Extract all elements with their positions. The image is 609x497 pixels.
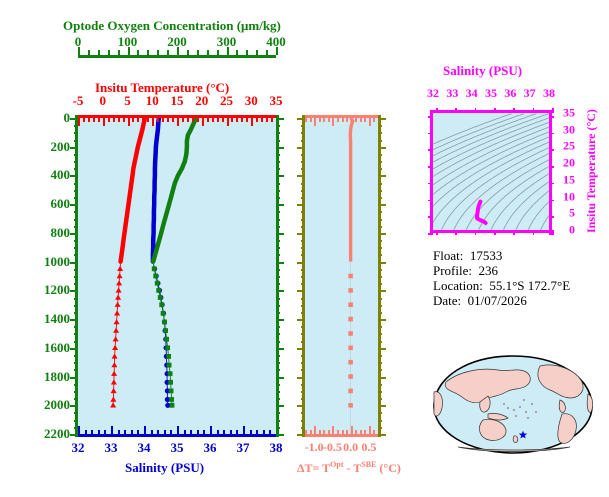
pressure-tick-right <box>276 154 280 156</box>
ts-tick <box>430 162 433 164</box>
profile-marker <box>111 379 117 384</box>
temperature-tick <box>256 118 258 122</box>
ts-tick <box>430 145 433 147</box>
ts-tick <box>523 110 525 113</box>
delta-t-tick <box>314 118 316 126</box>
delta-t-tick <box>310 430 312 434</box>
delta-t-pressure-tick <box>301 362 305 364</box>
ts-tick <box>484 230 486 233</box>
delta-t-marker <box>348 389 353 394</box>
ts-tick <box>430 141 433 143</box>
salinity-tick-label: 36 <box>204 440 217 456</box>
ts-tick <box>549 154 552 156</box>
salinity-tick <box>151 430 153 434</box>
salinity-axis-title: Salinity (PSU) <box>125 460 204 476</box>
pressure-tick-label: 1600 <box>44 340 70 356</box>
ts-tick <box>528 110 530 113</box>
pressure-tick <box>74 362 78 364</box>
meta-location-row: Location: 55.1°S 172.7°E <box>433 278 570 293</box>
delta-t-pressure-tick <box>378 140 382 142</box>
profile-marker <box>167 363 172 368</box>
ts-salinity-tick-labels: 32333435363738 <box>425 86 555 101</box>
ts-temperature-tick-label: 20 <box>553 156 575 171</box>
ts-tick <box>549 229 552 231</box>
oxygen-tick <box>207 50 209 55</box>
island <box>515 415 517 417</box>
salinity-tick <box>98 430 100 434</box>
pressure-tick-right <box>276 412 280 414</box>
ts-tick <box>430 220 433 222</box>
pressure-tick <box>74 341 78 343</box>
ts-salinity-tick-label: 33 <box>446 86 458 101</box>
pressure-tick <box>74 276 78 278</box>
delta-t-pressure-tick <box>301 132 305 134</box>
delta-t-tick <box>360 118 362 122</box>
delta-t-pressure-tick <box>378 312 382 314</box>
meta-float-value: 17533 <box>470 248 503 263</box>
salinity-tick <box>190 430 192 434</box>
pressure-tick-right <box>276 168 280 170</box>
pressure-tick <box>74 219 78 221</box>
salinity-tick-label: 38 <box>270 440 283 456</box>
pressure-tick <box>74 326 78 328</box>
temperature-tick-label: 15 <box>171 93 184 109</box>
ts-tick <box>518 110 520 113</box>
delta-t-pressure-tick <box>301 254 305 256</box>
meta-location-label: Location: <box>433 278 483 293</box>
delta-t-pressure-tick <box>378 355 382 357</box>
ts-tick <box>455 108 457 113</box>
ts-temperature-tick-label: 0 <box>553 223 575 238</box>
delta-t-pressure-tick <box>301 226 305 228</box>
pressure-tick-right <box>276 369 280 371</box>
ts-tick <box>430 154 433 156</box>
delta-t-pressure-tick <box>378 405 386 407</box>
pressure-tick <box>74 168 78 170</box>
ts-salinity-tick-label: 38 <box>543 86 555 101</box>
temperature-tick <box>172 118 174 122</box>
temperature-tick <box>147 118 149 122</box>
temperature-tick <box>98 118 100 122</box>
salinity-tick <box>118 430 120 434</box>
pressure-tick-right <box>276 298 280 300</box>
pressure-tick-right <box>276 427 280 429</box>
delta-t-pressure-tick <box>378 132 382 134</box>
delta-t-marker <box>348 346 353 351</box>
pressure-tick-right <box>276 341 280 343</box>
temperature-tick <box>103 118 105 126</box>
delta-t-tick <box>351 118 353 126</box>
temperature-tick <box>261 118 263 122</box>
meta-float-row: Float: 17533 <box>433 248 570 263</box>
temperature-tick-label: 20 <box>195 93 208 109</box>
salinity-tick <box>256 430 258 434</box>
delta-t-pressure-tick <box>301 298 305 300</box>
profile-line-square <box>153 118 196 262</box>
pressure-tick-right <box>276 312 280 314</box>
delta-t-pressure-tick <box>378 369 382 371</box>
meta-profile-label: Profile: <box>433 263 472 278</box>
pressure-tick <box>74 132 78 134</box>
temperature-tick <box>231 118 233 122</box>
meta-profile-value: 236 <box>479 263 499 278</box>
ts-tick <box>549 124 552 126</box>
delta-t-pressure-tick <box>378 362 382 364</box>
pressure-tick <box>70 434 78 436</box>
ts-tick <box>430 195 433 197</box>
delta-t-curve <box>305 118 378 434</box>
delta-t-pressure-tick <box>301 369 305 371</box>
profile-plot-left-axis <box>75 115 78 437</box>
temperature-tick <box>197 118 199 122</box>
delta-t-pressure-tick <box>378 168 382 170</box>
temperature-tick <box>192 118 194 122</box>
pressure-tick <box>74 197 78 199</box>
profile-marker <box>117 266 123 271</box>
temperature-tick <box>93 118 95 122</box>
temperature-tick <box>271 118 273 122</box>
delta-t-tick <box>323 430 325 434</box>
delta-t-pressure-tick <box>301 211 305 213</box>
ts-salinity-tick-label: 36 <box>504 86 516 101</box>
profile-marker <box>162 320 167 325</box>
ts-tick <box>489 230 491 233</box>
salinity-tick <box>223 430 225 434</box>
pressure-tick <box>74 161 78 163</box>
temperature-tick <box>118 118 120 122</box>
ts-tick <box>430 158 433 160</box>
delta-t-pressure-tick <box>378 183 382 185</box>
pressure-tick <box>74 240 78 242</box>
island <box>527 417 529 419</box>
delta-t-pressure-tick <box>301 161 305 163</box>
salinity-tick <box>197 430 199 434</box>
delta-t-pressure-tick <box>378 290 386 292</box>
profile-marker <box>164 337 169 342</box>
delta-t-tick <box>337 430 339 434</box>
delta-t-pressure-tick <box>378 412 382 414</box>
delta-t-tick <box>369 426 371 434</box>
profile-marker <box>169 397 174 402</box>
delta-t-pressure-tick <box>378 197 382 199</box>
ts-tick <box>430 120 433 122</box>
pressure-tick-right <box>276 190 280 192</box>
delta-t-pressure-tick <box>297 175 305 177</box>
temperature-tick <box>113 118 115 122</box>
pressure-tick <box>74 254 78 256</box>
ts-tick <box>549 225 552 227</box>
ts-tick <box>494 108 496 113</box>
pressure-tick <box>74 427 78 429</box>
pressure-tick <box>74 305 78 307</box>
profile-curves <box>78 118 276 434</box>
oxygen-tick <box>118 50 120 55</box>
delta-t-tick <box>342 118 344 122</box>
ts-tick <box>542 230 544 233</box>
delta-t-pressure-tick <box>378 240 382 242</box>
profile-marker <box>115 302 121 307</box>
oxygen-tick <box>98 50 100 55</box>
delta-t-tick <box>319 430 321 434</box>
ts-tick <box>470 230 472 233</box>
delta-t-pressure-tick <box>301 355 305 357</box>
temperature-tick <box>152 118 154 126</box>
pressure-tick <box>74 298 78 300</box>
ts-tick <box>446 230 448 233</box>
pressure-tick-right <box>276 391 280 393</box>
delta-t-tick-labels: -1.0-0.50.00.5 <box>290 440 395 456</box>
oxygen-tick <box>266 50 268 55</box>
delta-t-tick-label: 0.5 <box>361 440 376 455</box>
profile-marker <box>152 266 157 271</box>
salinity-tick <box>131 430 133 434</box>
ts-tick <box>549 191 552 193</box>
ts-tick <box>428 200 433 202</box>
delta-t-pressure-tick <box>301 240 305 242</box>
profile-marker <box>168 371 173 376</box>
pressure-tick-right <box>276 333 280 335</box>
pressure-tick <box>74 183 78 185</box>
ts-salinity-tick-label: 35 <box>485 86 497 101</box>
salinity-tick-label: 35 <box>171 440 184 456</box>
temperature-tick <box>162 118 164 122</box>
ts-temperature-tick-label: 25 <box>553 139 575 154</box>
ts-salinity-tick-label: 34 <box>466 86 478 101</box>
pressure-tick-label: 400 <box>51 167 71 183</box>
delta-t-plot-area[interactable] <box>305 118 378 434</box>
temperature-tick <box>177 118 179 126</box>
salinity-axis-tick-labels: 32333435363738 <box>63 440 293 456</box>
ts-tick <box>549 158 552 160</box>
pressure-tick-label: 600 <box>51 196 71 212</box>
pressure-tick <box>74 398 78 400</box>
profile-marker <box>158 295 163 300</box>
pressure-tick-right <box>276 362 280 364</box>
delta-t-tick <box>355 430 357 434</box>
ts-tick <box>480 230 482 233</box>
ts-tick <box>549 170 552 172</box>
ts-tick <box>475 108 477 113</box>
ts-tick <box>549 162 552 164</box>
delta-t-pressure-tick <box>301 391 305 393</box>
pressure-tick <box>74 355 78 357</box>
salinity-tick <box>164 430 166 434</box>
delta-t-line <box>350 118 353 262</box>
pressure-tick-right <box>276 219 280 221</box>
temperature-tick <box>251 118 253 126</box>
ts-tick <box>513 230 515 235</box>
landmass <box>558 414 577 444</box>
delta-t-top-axis <box>305 115 381 118</box>
ts-tick <box>549 195 552 197</box>
pressure-tick-label: 1800 <box>44 369 70 385</box>
world-map[interactable] <box>428 352 598 457</box>
pressure-tick <box>74 369 78 371</box>
profile-marker <box>114 319 120 324</box>
pressure-tick-right <box>276 269 280 271</box>
delta-t-tick <box>355 118 357 122</box>
ts-temperature-axis-title: Insitu Temperature (°C) <box>584 109 599 233</box>
delta-t-pressure-tick <box>301 333 305 335</box>
temperature-tick <box>212 118 214 122</box>
oxygen-axis-title: Optode Oxygen Concentration (μm/kg) <box>63 18 281 34</box>
temperature-tick <box>157 118 159 122</box>
ts-tick <box>549 120 552 122</box>
pressure-tick-label: 1000 <box>44 254 70 270</box>
ts-tick <box>430 191 433 193</box>
oxygen-tick <box>177 47 179 55</box>
ts-tick <box>549 145 552 147</box>
delta-t-pressure-tick <box>297 434 305 436</box>
delta-t-pressure-tick <box>301 125 305 127</box>
ts-tick <box>549 220 552 222</box>
delta-t-marker <box>348 302 353 307</box>
pressure-tick <box>70 233 78 235</box>
oxygen-tick <box>137 50 139 55</box>
ts-tick <box>430 124 433 126</box>
delta-t-pressure-tick <box>378 348 386 350</box>
delta-t-pressure-tick <box>297 233 305 235</box>
profile-marker <box>111 362 117 367</box>
ts-tick <box>499 230 501 233</box>
delta-t-pressure-tick <box>301 168 305 170</box>
delta-t-tick <box>328 118 330 122</box>
oxygen-tick <box>187 50 189 55</box>
pressure-tick-right <box>276 405 284 407</box>
ts-diagram-title: Salinity (PSU) <box>443 63 522 79</box>
pressure-tick-right <box>276 355 280 357</box>
pressure-tick <box>74 211 78 213</box>
delta-t-tick <box>328 430 330 434</box>
delta-t-pressure-tick <box>378 211 382 213</box>
temperature-tick-label: 10 <box>146 93 159 109</box>
pressure-tick <box>74 154 78 156</box>
pressure-tick-right <box>276 247 280 249</box>
temperature-tick <box>78 118 80 126</box>
delta-t-pressure-tick <box>378 175 386 177</box>
island <box>513 409 515 411</box>
island <box>519 406 521 408</box>
ts-tick <box>549 212 552 214</box>
delta-t-pressure-tick <box>297 262 305 264</box>
pressure-tick-right <box>276 226 280 228</box>
oxygen-tick <box>256 50 258 55</box>
ts-tick <box>430 204 433 206</box>
island <box>525 411 527 413</box>
temperature-tick <box>88 118 90 122</box>
salinity-tick <box>157 430 159 434</box>
pressure-tick <box>70 405 78 407</box>
ts-tick <box>542 110 544 113</box>
delta-t-tick <box>342 430 344 434</box>
salinity-tick <box>137 430 139 434</box>
ts-diagram-border <box>430 110 552 233</box>
profile-marker <box>116 287 122 292</box>
oxygen-tick <box>78 47 80 55</box>
delta-t-tick <box>351 426 353 434</box>
delta-t-pressure-tick <box>378 161 382 163</box>
ts-tick <box>513 108 515 113</box>
pressure-tick <box>74 269 78 271</box>
pressure-tick-right <box>276 125 280 127</box>
pressure-tick-right <box>276 319 284 321</box>
oxygen-tick <box>167 50 169 55</box>
ts-tick <box>465 110 467 113</box>
pressure-tick-right <box>276 183 280 185</box>
oxygen-tick <box>147 50 149 55</box>
delta-t-bottom-axis <box>305 434 381 437</box>
delta-t-sup-opt: Opt <box>330 460 343 469</box>
pressure-tick-right <box>276 118 284 120</box>
temperature-tick-label: -5 <box>73 93 84 109</box>
ts-tick <box>504 110 506 113</box>
oxygen-axis-tick-labels: 0100200300400 <box>63 34 278 49</box>
delta-t-pressure-tick <box>301 326 305 328</box>
temperature-tick <box>202 118 204 126</box>
temperature-tick-label: 35 <box>270 93 283 109</box>
ts-tick <box>549 141 552 143</box>
delta-t-pressure-tick <box>301 140 305 142</box>
pressure-tick-right <box>276 140 280 142</box>
meta-date-row: Date: 01/07/2026 <box>433 293 570 308</box>
delta-t-pressure-tick <box>378 333 382 335</box>
profile-plot-bottom-axis <box>78 434 279 437</box>
ts-tick <box>428 133 433 135</box>
pressure-tick <box>74 226 78 228</box>
salinity-tick <box>78 426 80 434</box>
delta-t-sup-sbe: SBE <box>361 460 376 469</box>
ts-tick <box>430 179 433 181</box>
ts-tick <box>455 230 457 235</box>
delta-t-tick <box>373 430 375 434</box>
temperature-tick <box>137 118 139 122</box>
delta-t-pressure-tick <box>378 391 382 393</box>
delta-t-pressure-tick <box>378 326 382 328</box>
profile-marker <box>112 345 118 350</box>
salinity-tick-label: 33 <box>105 440 118 456</box>
profile-plot-area[interactable] <box>78 118 276 434</box>
pressure-tick-right <box>276 326 280 328</box>
delta-t-pressure-tick <box>378 247 382 249</box>
profile-plot-right-axis <box>276 115 279 437</box>
ts-tick <box>533 108 535 113</box>
ts-temperature-tick-label: 35 <box>553 106 575 121</box>
delta-t-tick <box>332 426 334 434</box>
oxygen-tick <box>217 50 219 55</box>
profile-marker <box>156 288 161 293</box>
delta-t-pressure-tick <box>301 154 305 156</box>
delta-t-left-axis <box>302 115 305 437</box>
delta-t-pressure-tick <box>378 254 382 256</box>
ts-tick <box>430 212 433 214</box>
temperature-tick <box>236 118 238 122</box>
delta-t-pressure-tick <box>301 341 305 343</box>
delta-t-tick-label: -0.5 <box>323 440 342 455</box>
pressure-tick-right <box>276 262 284 264</box>
delta-t-tick <box>323 118 325 122</box>
pressure-tick-label: 0 <box>64 110 71 126</box>
delta-t-tick-label: -1.0 <box>305 440 324 455</box>
delta-t-tick <box>337 118 339 122</box>
pressure-tick-label: 1200 <box>44 282 70 298</box>
oxygen-tick <box>197 50 199 55</box>
pressure-tick-label: 800 <box>51 225 71 241</box>
profile-marker <box>111 371 117 376</box>
profile-marker <box>170 403 175 408</box>
pressure-tick <box>74 391 78 393</box>
pressure-tick <box>74 412 78 414</box>
meta-profile-row: Profile: 236 <box>433 263 570 278</box>
